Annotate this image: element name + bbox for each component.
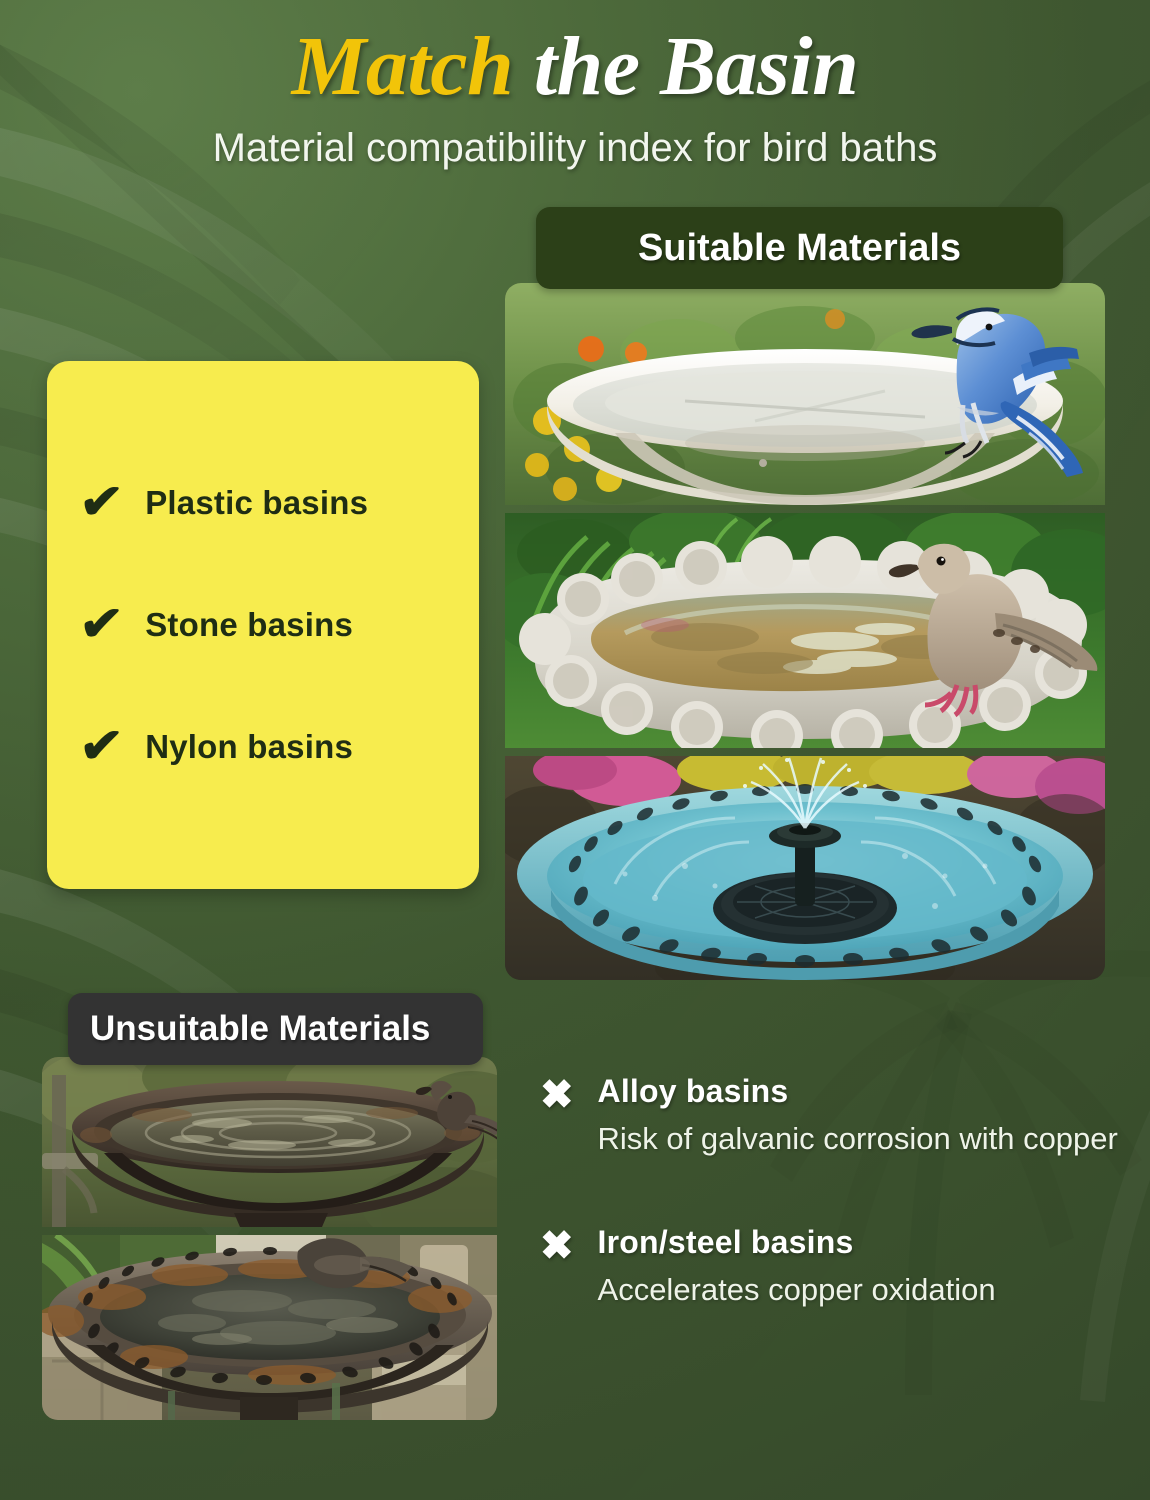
unsuitable-item-body: Alloy basins Risk of galvanic corrosion … (598, 1073, 1120, 1158)
list-item: ✖ Alloy basins Risk of galvanic corrosio… (540, 1073, 1120, 1158)
page-title-plain: the Basin (513, 20, 858, 113)
suitable-item-label: Plastic basins (145, 484, 368, 522)
photo-white-ceramic-birdbath-with-blue-jay (505, 283, 1105, 505)
photo-corroded-steel-birdbath-perforated-rim (42, 1235, 497, 1420)
page-title: Match the Basin (0, 0, 1150, 110)
x-icon: ✖ (540, 1226, 574, 1266)
photo-teal-glass-birdbath-with-solar-fountain (505, 756, 1105, 980)
unsuitable-item-desc: Accelerates copper oxidation (598, 1271, 1120, 1309)
x-icon: ✖ (540, 1075, 574, 1115)
unsuitable-photo-stack (42, 1057, 497, 1420)
suitable-photo-stack (505, 283, 1105, 980)
suitable-item-label: Stone basins (145, 606, 353, 644)
unsuitable-item-title: Alloy basins (598, 1073, 1120, 1110)
page-subtitle: Material compatibility index for bird ba… (0, 126, 1150, 171)
photo-scalloped-stone-birdbath-with-dove (505, 513, 1105, 748)
suitable-item-label: Nylon basins (145, 728, 353, 766)
list-item: ✔ Stone basins (81, 601, 479, 649)
unsuitable-materials-badge: Unsuitable Materials (68, 993, 483, 1065)
list-item: ✖ Iron/steel basins Accelerates copper o… (540, 1224, 1120, 1309)
header: Match the Basin Material compatibility i… (0, 0, 1150, 171)
suitable-materials-badge: Suitable Materials (536, 207, 1063, 289)
unsuitable-materials-list: ✖ Alloy basins Risk of galvanic corrosio… (540, 1073, 1120, 1309)
photo-rusted-iron-birdbath-bowl (42, 1057, 497, 1227)
check-icon: ✔ (78, 601, 125, 649)
list-item: ✔ Plastic basins (81, 479, 479, 527)
unsuitable-item-title: Iron/steel basins (598, 1224, 1120, 1261)
check-icon: ✔ (78, 723, 125, 771)
check-icon: ✔ (78, 479, 125, 527)
suitable-materials-card: ✔ Plastic basins ✔ Stone basins ✔ Nylon … (47, 361, 479, 889)
unsuitable-item-desc: Risk of galvanic corrosion with copper (598, 1120, 1120, 1158)
page-title-accent: Match (292, 20, 514, 113)
unsuitable-item-body: Iron/steel basins Accelerates copper oxi… (598, 1224, 1120, 1309)
list-item: ✔ Nylon basins (81, 723, 479, 771)
